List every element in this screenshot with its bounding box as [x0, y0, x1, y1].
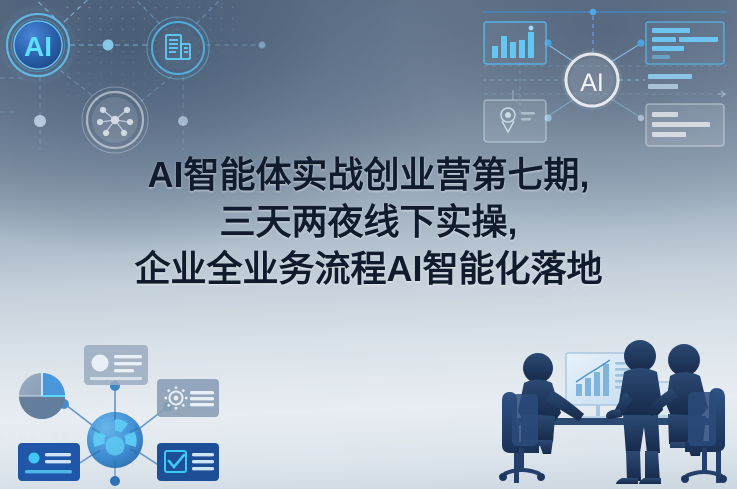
poster-canvas: AI	[0, 0, 737, 489]
headline-line-1: AI智能体实战创业营第七期,	[0, 152, 737, 199]
headline-line-2: 三天两夜线下实操,	[0, 199, 737, 246]
page-title: AI智能体实战创业营第七期, 三天两夜线下实操, 企业全业务流程AI智能化落地	[0, 152, 737, 292]
headline-line-3: 企业全业务流程AI智能化落地	[0, 246, 737, 293]
